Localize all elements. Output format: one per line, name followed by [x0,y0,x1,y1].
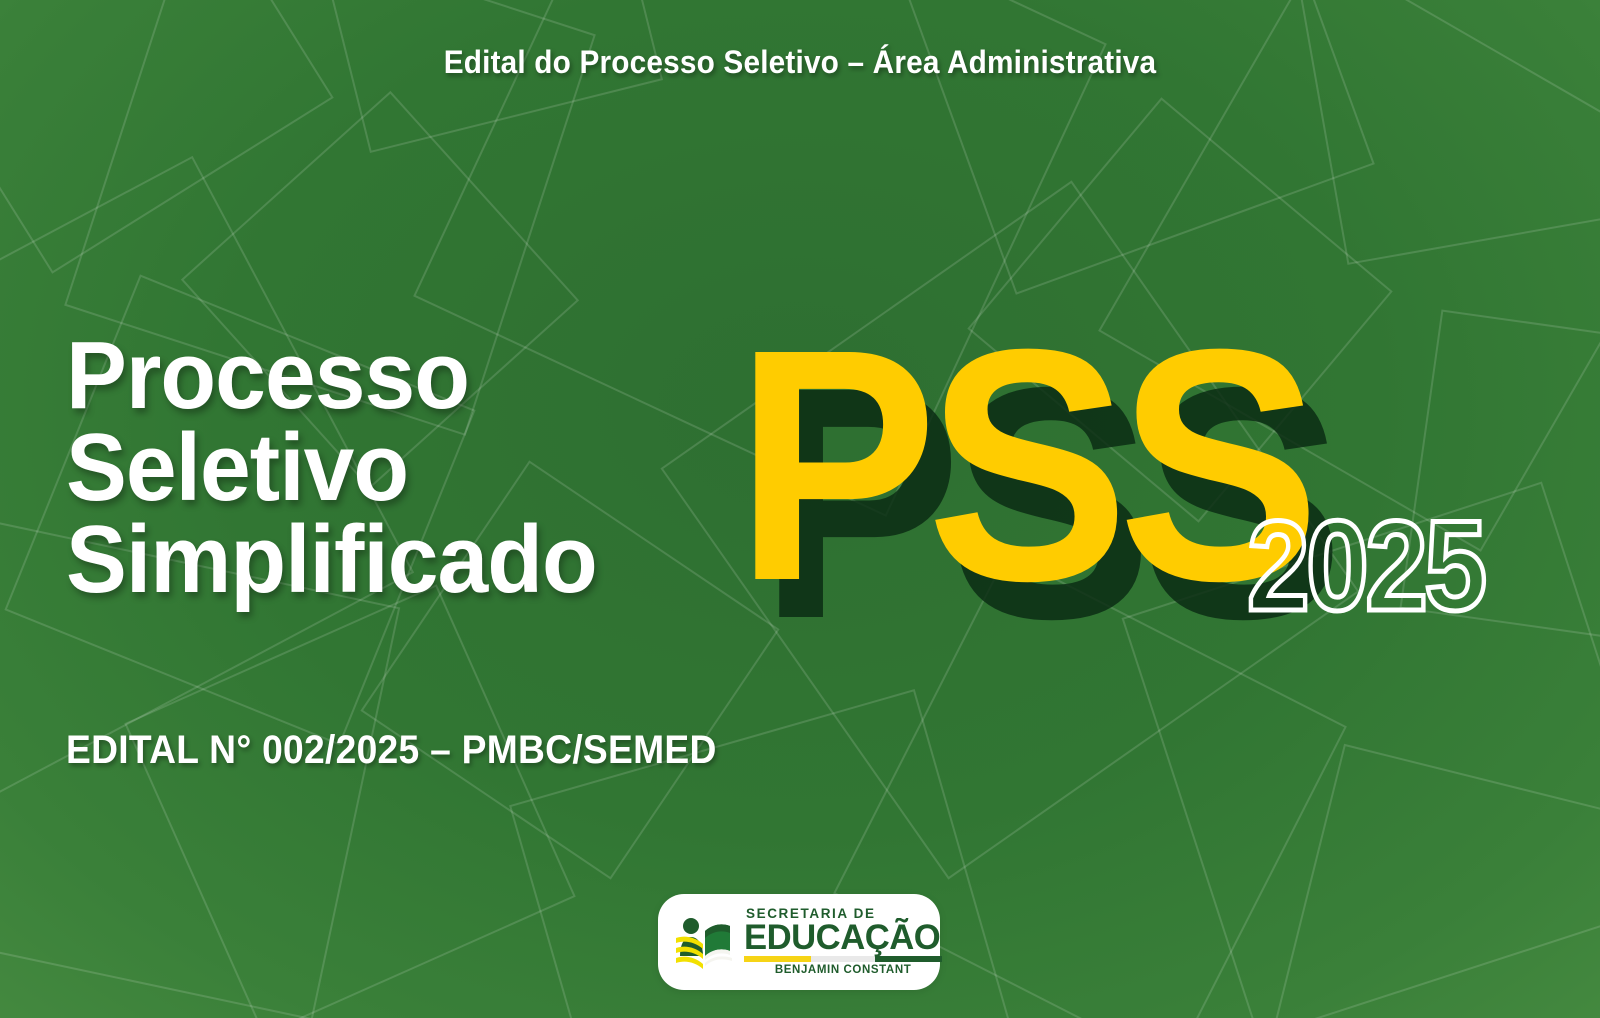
banner-header-title: Edital do Processo Seletivo – Área Admin… [56,44,1544,81]
logo-educacao-label: EDUCAÇÃO [744,922,940,954]
logo-bar-yellow [744,956,811,962]
page-title: Processo Seletivo Simplificado [66,330,597,606]
edital-number-subtitle: EDITAL N° 002/2025 – PMBC/SEMED [66,728,717,773]
logo-bar-white [811,956,874,962]
logo-color-bar [744,956,942,962]
headline-line-2: Seletivo [66,422,597,514]
logo-city-label: BENJAMIN CONSTANT [744,965,942,977]
pss-year-outline: 2025 [1247,503,1484,631]
pss-logotype-text: PSS [735,300,1309,630]
logo-text-block: SECRETARIA DE EDUCAÇÃO BENJAMIN CONSTANT [744,907,942,976]
headline-line-3: Simplificado [66,514,597,606]
pss-announcement-banner: Edital do Processo Seletivo – Área Admin… [0,0,1600,1018]
secretaria-educacao-logo: SECRETARIA DE EDUCAÇÃO BENJAMIN CONSTANT [658,894,940,990]
logo-bar-green [875,956,942,962]
headline-line-1: Processo [66,330,597,422]
book-and-student-icon [672,911,738,973]
